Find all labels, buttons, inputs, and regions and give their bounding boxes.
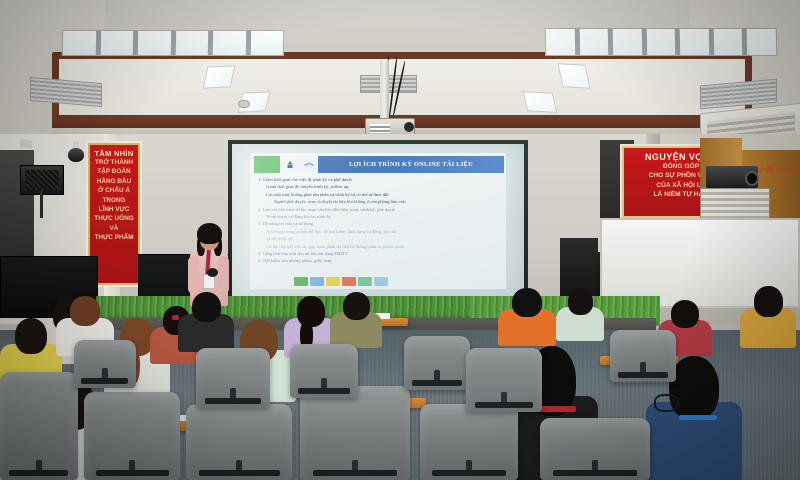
audience-chair xyxy=(0,372,78,480)
audience-chair xyxy=(300,386,410,480)
attendee-head xyxy=(568,288,593,315)
audience-chair xyxy=(420,404,518,480)
chair-leg xyxy=(298,388,350,394)
attendee-head xyxy=(754,286,783,317)
audience-chair xyxy=(186,404,292,480)
audience-chair xyxy=(84,392,180,480)
attendee-head xyxy=(70,296,100,326)
attendee-sage xyxy=(556,288,604,340)
attendee-head xyxy=(671,300,699,328)
chair-leg xyxy=(205,398,261,404)
attendee-lanyard xyxy=(679,415,717,420)
conference-room-photo: TẦM NHÌN TRỞ THÀNH TẬP ĐOÀN HÀNG ĐẦU Ở C… xyxy=(0,0,800,480)
attendee-mustard xyxy=(740,286,796,346)
attendee-head xyxy=(192,292,221,322)
attendee-head xyxy=(512,288,542,317)
attendee-olive xyxy=(330,292,382,346)
chair-leg xyxy=(96,470,169,476)
audience-layer xyxy=(0,0,800,480)
attendee-head xyxy=(669,356,719,420)
chair-leg xyxy=(81,378,128,384)
chair-leg xyxy=(618,372,668,378)
attendee-head xyxy=(15,318,47,354)
attendee-glasses-icon xyxy=(654,394,679,412)
chair-leg xyxy=(432,470,506,476)
chair-leg xyxy=(553,470,637,476)
attendee-head xyxy=(343,292,370,320)
chair-leg xyxy=(199,470,280,476)
attendee-orange xyxy=(498,288,556,344)
chair-leg xyxy=(475,402,533,408)
chair-leg xyxy=(313,470,397,476)
chair-leg xyxy=(412,380,462,386)
chair-leg xyxy=(9,470,68,476)
